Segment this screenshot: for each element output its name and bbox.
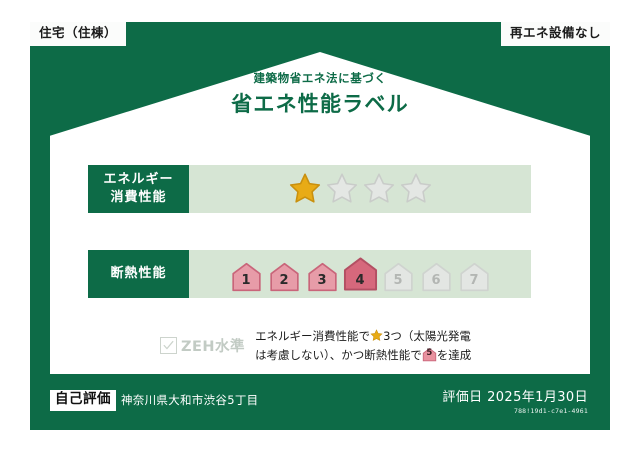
footer-right: 評価日 2025年1月30日 788!19d1-c7e1-4961 (442, 386, 588, 415)
property-address: 神奈川県大和市渋谷5丁目 (121, 392, 258, 408)
insulation-step: 7 (457, 262, 492, 292)
evaluation-date: 評価日 2025年1月30日 (442, 386, 588, 405)
house-icon (457, 262, 492, 292)
label-footer: 自己評価 神奈川県大和市渋谷5丁目 評価日 2025年1月30日 788!19d… (30, 374, 610, 430)
evaluation-id: 788!19d1-c7e1-4961 (442, 407, 588, 415)
zeh-description: エネルギー消費性能で3つ（太陽光発電 は考慮しない）、かつ断熱性能で5を達成 (255, 327, 471, 364)
zeh-description-line2: は考慮しない）、かつ断熱性能で5を達成 (255, 346, 471, 365)
zeh-desc-2b: を達成 (437, 348, 472, 362)
insulation-step: 1 (229, 262, 264, 292)
star-filled-icon (288, 172, 322, 206)
zeh-description-line1: エネルギー消費性能で3つ（太陽光発電 (255, 327, 471, 346)
star-empty-icon (399, 172, 433, 206)
insulation-house-scale: 1234567 (229, 256, 492, 292)
insulation-step: 2 (267, 262, 302, 292)
check-icon (163, 340, 174, 351)
house-icon (305, 262, 340, 292)
insulation-step: 4 (343, 256, 378, 292)
zeh-label: ZEH水準 (181, 335, 245, 356)
inline-house-badge: 5 (422, 347, 437, 362)
insulation-label-text: 断熱性能 (110, 265, 166, 283)
zeh-mark: ZEH水準 (160, 335, 245, 356)
star-empty-icon (325, 172, 359, 206)
zeh-checkbox (160, 337, 177, 354)
energy-label-line2: 消費性能 (110, 189, 166, 207)
renewable-equipment-tag: 再エネ設備なし (501, 22, 610, 46)
footer-left: 自己評価 神奈川県大和市渋谷5丁目 (50, 390, 258, 411)
insulation-performance-label: 断熱性能 (88, 250, 189, 298)
self-evaluation-badge: 自己評価 (50, 390, 116, 411)
zeh-desc-2a: は考慮しない）、かつ断熱性能で (255, 348, 422, 362)
house-icon (267, 262, 302, 292)
zeh-desc-1b: 3つ（太陽光発電 (383, 329, 471, 343)
insulation-step: 6 (419, 262, 454, 292)
house-icon (343, 256, 378, 292)
building-type-tag: 住宅（住棟） (30, 22, 126, 46)
title-main: 省エネ性能ラベル (30, 88, 610, 118)
insulation-step: 5 (381, 262, 416, 292)
house-icon (229, 262, 264, 292)
energy-performance-label: エネルギー 消費性能 (88, 165, 189, 213)
title-subtitle: 建築物省エネ法に基づく (30, 70, 610, 86)
star-empty-icon (362, 172, 396, 206)
house-icon (419, 262, 454, 292)
energy-label-line1: エネルギー (103, 171, 173, 189)
star-icon (370, 329, 383, 342)
star-rating (189, 165, 531, 213)
insulation-performance-row: 断熱性能 1234567 (88, 250, 531, 298)
insulation-step: 3 (305, 262, 340, 292)
zeh-standard-block: ZEH水準 エネルギー消費性能で3つ（太陽光発電 は考慮しない）、かつ断熱性能で… (160, 327, 471, 364)
house-icon (381, 262, 416, 292)
zeh-desc-1a: エネルギー消費性能で (255, 329, 370, 343)
energy-performance-label-card: 住宅（住棟） 再エネ設備なし 建築物省エネ法に基づく 省エネ性能ラベル エネルギ… (30, 22, 610, 430)
energy-performance-row: エネルギー 消費性能 (88, 165, 531, 213)
label-title: 建築物省エネ法に基づく 省エネ性能ラベル (30, 70, 610, 118)
inline-house-number: 5 (422, 347, 437, 362)
insulation-scale-wrap: 1234567 (189, 250, 531, 298)
